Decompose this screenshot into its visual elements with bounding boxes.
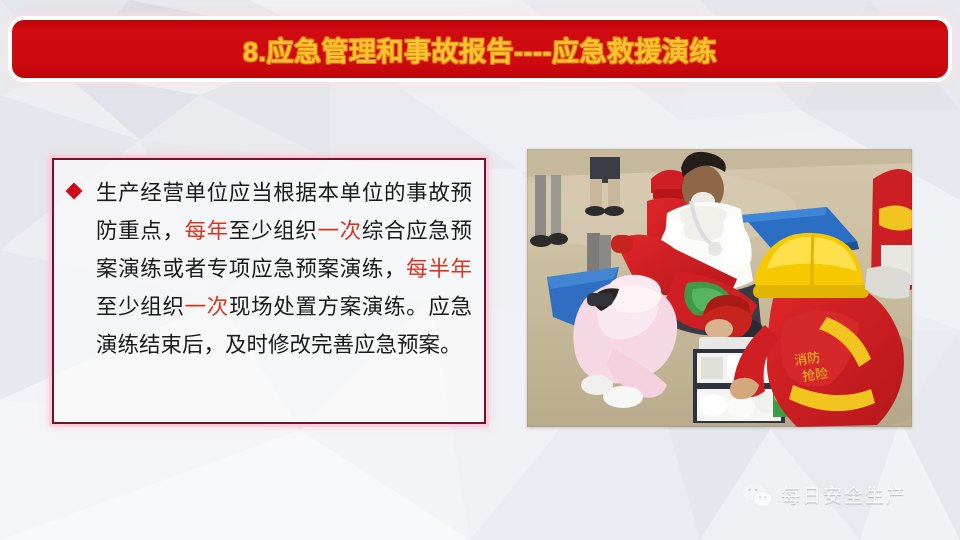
bullet-diamond-icon xyxy=(66,183,83,200)
body-highlight-text: 一次 xyxy=(318,219,362,243)
content-text-card: 生产经营单位应当根据本单位的事故预防重点，每年至少组织一次综合应急预案演练或者专… xyxy=(52,158,486,424)
body-highlight-text: 一次 xyxy=(185,295,229,319)
body-highlight-text: 每年 xyxy=(185,219,229,243)
slide-canvas: 8.应急管理和事故报告----应急救援演练 生产经营单位应当根据本单位的事故预防… xyxy=(0,0,960,540)
watermark: 每日安全生产 xyxy=(742,481,907,508)
slide-title-banner: 8.应急管理和事故报告----应急救援演练 xyxy=(12,20,948,78)
rescue-drill-photo: 消防 抢险 xyxy=(527,149,912,427)
body-rich-text: 生产经营单位应当根据本单位的事故预防重点，每年至少组织一次综合应急预案演练或者专… xyxy=(96,181,472,357)
wechat-icon xyxy=(742,482,772,508)
body-plain-text: 至少组织 xyxy=(229,219,318,243)
body-paragraph: 生产经营单位应当根据本单位的事故预防重点，每年至少组织一次综合应急预案演练或者专… xyxy=(66,174,472,364)
body-highlight-text: 每半年 xyxy=(406,257,472,281)
rescue-drill-photo-image: 消防 抢险 xyxy=(527,149,912,427)
page-title: 8.应急管理和事故报告----应急救援演练 xyxy=(243,30,717,69)
watermark-label: 每日安全生产 xyxy=(781,481,907,508)
body-plain-text: 至少组织 xyxy=(96,295,185,319)
